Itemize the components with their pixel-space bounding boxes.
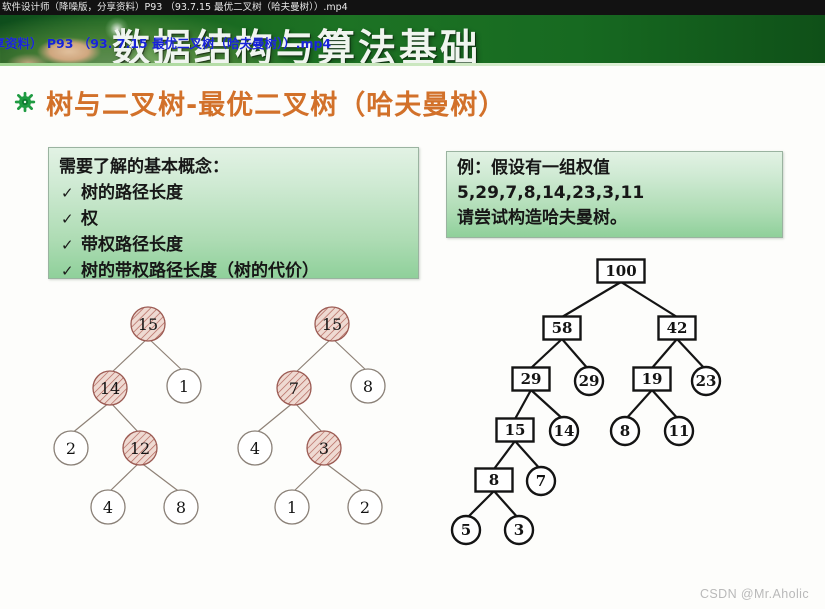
check-icon: ✓	[61, 180, 81, 206]
tree-node: 15	[131, 307, 165, 341]
tree-node: 1	[167, 369, 201, 403]
node-label: 8	[176, 498, 186, 517]
tree-edge	[515, 390, 531, 419]
tree-node: 8	[611, 417, 639, 445]
node-label: 5	[461, 521, 471, 539]
node-label: 100	[605, 262, 636, 280]
gear-flower-bullet-icon	[14, 91, 36, 113]
node-label: 29	[579, 372, 600, 390]
banner-underline	[0, 63, 825, 66]
node-label: 7	[289, 379, 299, 398]
node-label: 42	[667, 319, 688, 337]
banner-overlay-filename: 软件设计师（降噪版，分享资料） P93 （93. 7.15 最优二叉树（哈夫曼树…	[0, 33, 331, 52]
tree-edge	[652, 339, 677, 368]
node-label: 19	[642, 370, 663, 388]
node-label: 3	[514, 521, 524, 539]
tree-edge	[110, 338, 148, 374]
tree-node: 11	[665, 417, 693, 445]
tree-node: 23	[692, 367, 720, 395]
node-label: 1	[287, 498, 297, 517]
concepts-item-label: 权	[81, 209, 98, 229]
node-label: 14	[100, 379, 120, 398]
tree-node: 2	[54, 431, 88, 465]
example-box: 例：假设有一组权值 5,29,7,8,14,23,3,11 请尝试构造哈夫曼树。	[446, 151, 783, 238]
tree-node: 3	[307, 431, 341, 465]
tree-edge	[324, 462, 365, 493]
page-title: 树与二叉树-最优二叉树（哈夫曼树）	[14, 82, 506, 122]
tree-node: 14	[93, 371, 127, 405]
tree-diagram-left: 1514121248	[40, 298, 230, 548]
tree-node: 100	[598, 260, 645, 283]
tree-node: 7	[527, 467, 555, 495]
tree-edge	[332, 338, 368, 372]
video-title-bar: 软件设计师（降噪版，分享资料）P93 （93.7.15 最优二叉树（哈夫曼树））…	[0, 0, 825, 15]
node-label: 23	[696, 372, 717, 390]
tree-node: 4	[238, 431, 272, 465]
tree-nodes: 1514121248	[54, 307, 201, 524]
tree-node: 7	[277, 371, 311, 405]
tree-edge	[621, 282, 677, 317]
concepts-item: ✓树的路径长度	[59, 180, 410, 206]
tree-node: 29	[513, 368, 550, 391]
node-label: 8	[489, 471, 499, 489]
concepts-item: ✓带权路径长度	[59, 232, 410, 258]
example-weights: 5,29,7,8,14,23,3,11	[457, 181, 774, 206]
node-label: 15	[138, 315, 158, 334]
tree-edge	[140, 462, 181, 493]
tree-edge	[292, 462, 324, 493]
tree-edge	[562, 339, 589, 370]
node-label: 11	[669, 422, 690, 440]
slide-canvas: 软件设计师（降噪版，分享资料）P93 （93.7.15 最优二叉树（哈夫曼树））…	[0, 0, 825, 609]
tree-node: 8	[476, 469, 513, 492]
tree-node: 15	[315, 307, 349, 341]
example-line-1: 例：假设有一组权值	[457, 156, 774, 181]
concepts-item-label: 树的路径长度	[81, 183, 183, 203]
node-label: 2	[360, 498, 370, 517]
node-label: 4	[250, 439, 260, 458]
tree-node: 29	[575, 367, 603, 395]
tree-edge	[531, 390, 564, 420]
concepts-box: 需要了解的基本概念： ✓树的路径长度 ✓权 ✓带权路径长度 ✓树的带权路径长度（…	[48, 147, 419, 279]
node-label: 8	[620, 422, 630, 440]
slide-banner: 数据结构与算法基础 软件设计师（降噪版，分享资料） P93 （93. 7.15 …	[0, 15, 825, 65]
node-label: 8	[363, 377, 373, 396]
tree-node: 3	[505, 516, 533, 544]
tree-edge	[652, 390, 679, 420]
tree-nodes: 15784312	[238, 307, 385, 524]
node-label: 14	[554, 422, 575, 440]
check-icon: ✓	[61, 232, 81, 258]
csdn-watermark: CSDN @Mr.Aholic	[700, 587, 809, 601]
tree-edge	[677, 339, 706, 370]
node-label: 7	[536, 472, 546, 490]
example-line-3: 请尝试构造哈夫曼树。	[457, 206, 774, 231]
node-label: 15	[322, 315, 342, 334]
node-label: 12	[130, 439, 150, 458]
tree-node: 1	[275, 490, 309, 524]
tree-edge	[625, 390, 652, 420]
node-label: 1	[179, 377, 189, 396]
tree-node: 8	[164, 490, 198, 524]
tree-edge	[294, 338, 332, 374]
tree-edge	[108, 462, 140, 493]
tree-edge	[466, 491, 494, 519]
tree-node: 8	[351, 369, 385, 403]
tree-node: 2	[348, 490, 382, 524]
node-label: 58	[552, 319, 573, 337]
tree-edge	[562, 282, 621, 317]
tree-node: 58	[544, 317, 581, 340]
tree-edge	[531, 339, 562, 368]
tree-edge	[110, 402, 140, 434]
concepts-item: ✓权	[59, 206, 410, 232]
tree-edge	[494, 441, 515, 469]
tree-edge	[494, 491, 519, 519]
tree-node: 12	[123, 431, 157, 465]
tree-edge	[515, 441, 541, 470]
tree-edges	[71, 338, 184, 493]
tree-edges	[255, 338, 368, 493]
tree-edge	[148, 338, 184, 372]
tree-node: 42	[659, 317, 696, 340]
node-label: 15	[505, 421, 526, 439]
node-label: 29	[521, 370, 542, 388]
tree-node: 5	[452, 516, 480, 544]
tree-edge	[255, 402, 294, 434]
check-icon: ✓	[61, 258, 81, 284]
page-title-text: 树与二叉树-最优二叉树（哈夫曼树）	[46, 83, 506, 122]
node-label: 3	[319, 439, 329, 458]
concepts-item-label: 带权路径长度	[81, 235, 183, 255]
tree-edge	[71, 402, 110, 434]
tree-diagram-middle: 15784312	[224, 298, 414, 548]
check-icon: ✓	[61, 206, 81, 232]
concepts-item: ✓树的带权路径长度（树的代价）	[59, 258, 410, 284]
tree-edge	[294, 402, 324, 434]
tree-node: 19	[634, 368, 671, 391]
huffman-tree-diagram: 10058422929192315148118753	[440, 252, 770, 562]
node-label: 2	[66, 439, 76, 458]
tree-node: 4	[91, 490, 125, 524]
tree-node: 15	[497, 419, 534, 442]
concepts-box-title: 需要了解的基本概念：	[59, 154, 410, 180]
concepts-item-label: 树的带权路径长度（树的代价）	[81, 261, 319, 281]
tree-node: 14	[550, 417, 578, 445]
node-label: 4	[103, 498, 113, 517]
